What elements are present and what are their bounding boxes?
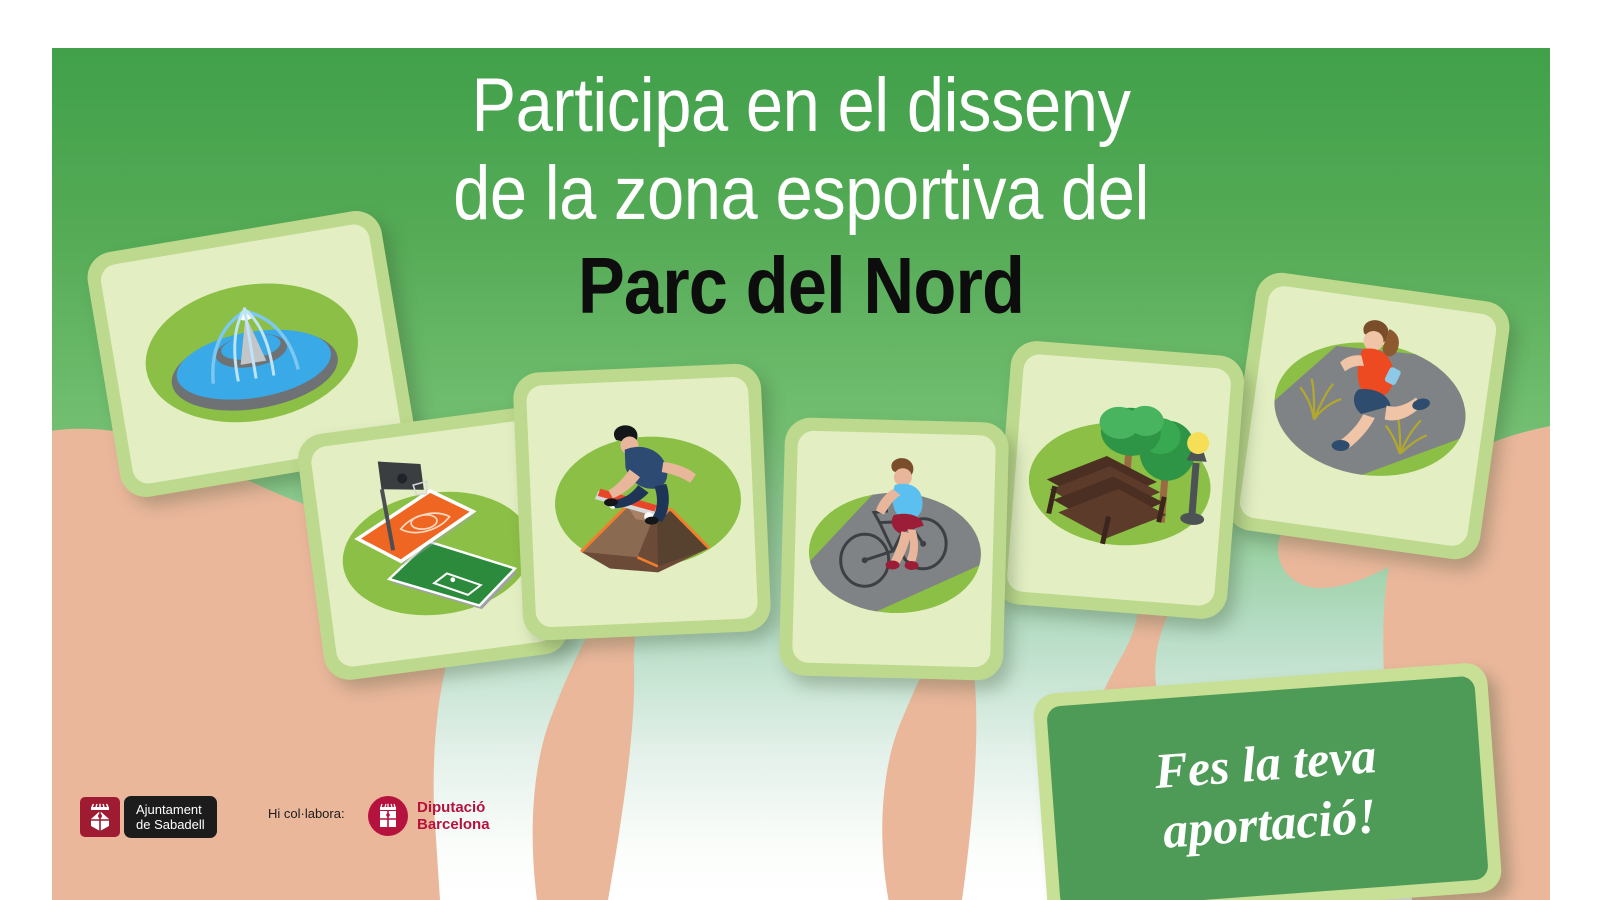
footer-logos: Ajuntament de Sabadell Hi col·labora: Di… <box>0 780 1600 860</box>
card-running-inner <box>1238 284 1498 548</box>
card-bench[interactable] <box>992 339 1246 621</box>
card-bench-inner <box>1006 353 1232 607</box>
poster-root: Fes la teva aportació! Participa en el d… <box>0 0 1600 900</box>
diputacio-line-2: Barcelona <box>417 816 490 833</box>
card-cycling-inner <box>792 430 996 667</box>
cyclist-icon <box>792 430 996 667</box>
card-skatepark[interactable] <box>512 363 771 642</box>
skateboarder-icon <box>526 376 758 627</box>
logo-ajuntament-sabadell: Ajuntament de Sabadell <box>80 796 217 838</box>
sabadell-line-2: de Sabadell <box>136 817 205 832</box>
card-running[interactable] <box>1223 269 1513 562</box>
sabadell-shield-icon <box>80 797 120 837</box>
card-skatepark-inner <box>526 376 758 627</box>
collaborator-label: Hi col·labora: <box>268 806 345 821</box>
runner-icon <box>1238 284 1498 548</box>
diputacio-emblem-icon <box>368 796 408 836</box>
park-bench-icon <box>1006 353 1232 607</box>
green-background-panel: Fes la teva aportació! <box>52 48 1550 900</box>
sabadell-name-block: Ajuntament de Sabadell <box>124 796 217 838</box>
sabadell-line-1: Ajuntament <box>136 802 205 817</box>
card-cycling[interactable] <box>779 417 1010 681</box>
diputacio-name-block: Diputació Barcelona <box>417 799 490 833</box>
diputacio-line-1: Diputació <box>417 799 490 816</box>
logo-diputacio-barcelona: Diputació Barcelona <box>368 796 490 836</box>
